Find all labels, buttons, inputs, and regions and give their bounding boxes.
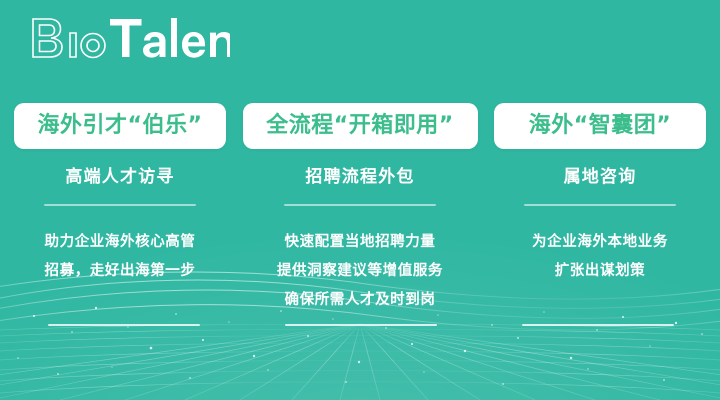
feature-pill-2[interactable]: 全流程“开箱即用” — [243, 103, 478, 149]
feature-subtitle-3: 属地咨询 — [564, 169, 637, 186]
feature-body-line: 提供洞察建议等增值服务 — [277, 257, 443, 286]
feature-pill-label-2: 全流程“开箱即用” — [266, 115, 453, 137]
feature-body-1: 助力企业海外核心高管 招募，走好出海第一步 — [45, 228, 196, 286]
feature-divider-3 — [524, 204, 676, 206]
feature-subtitle-1: 高端人才访寻 — [65, 169, 174, 186]
feature-pill-1[interactable]: 海外引才“伯乐” — [14, 103, 226, 149]
feature-columns: 海外引才“伯乐” 高端人才访寻 助力企业海外核心高管 招募，走好出海第一步 全流… — [0, 0, 720, 400]
feature-pill-label-1: 海外引才“伯乐” — [38, 115, 203, 137]
feature-column-2: 全流程“开箱即用” 招聘流程外包 快速配置当地招聘力量 提供洞察建议等增值服务 … — [240, 0, 480, 315]
feature-body-line: 招募，走好出海第一步 — [45, 257, 196, 286]
feature-divider-1 — [44, 204, 196, 206]
feature-body-line: 确保所需人才及时到岗 — [277, 286, 443, 315]
feature-body-3: 为企业海外本地业务 扩张出谋划策 — [532, 228, 668, 286]
feature-column-1: 海外引才“伯乐” 高端人才访寻 助力企业海外核心高管 招募，走好出海第一步 — [0, 0, 240, 286]
feature-pill-label-3: 海外“智囊团” — [529, 115, 671, 137]
promo-banner: 海外引才“伯乐” 高端人才访寻 助力企业海外核心高管 招募，走好出海第一步 全流… — [0, 0, 720, 400]
feature-body-line: 快速配置当地招聘力量 — [277, 228, 443, 257]
feature-divider-2 — [284, 204, 436, 206]
feature-pill-3[interactable]: 海外“智囊团” — [494, 103, 706, 149]
feature-body-line: 为企业海外本地业务 — [532, 228, 668, 257]
feature-body-2: 快速配置当地招聘力量 提供洞察建议等增值服务 确保所需人才及时到岗 — [277, 228, 443, 315]
feature-body-line: 助力企业海外核心高管 — [45, 228, 196, 257]
feature-body-line: 扩张出谋划策 — [532, 257, 668, 286]
feature-column-3: 海外“智囊团” 属地咨询 为企业海外本地业务 扩张出谋划策 — [480, 0, 720, 286]
feature-subtitle-2: 招聘流程外包 — [305, 169, 414, 186]
